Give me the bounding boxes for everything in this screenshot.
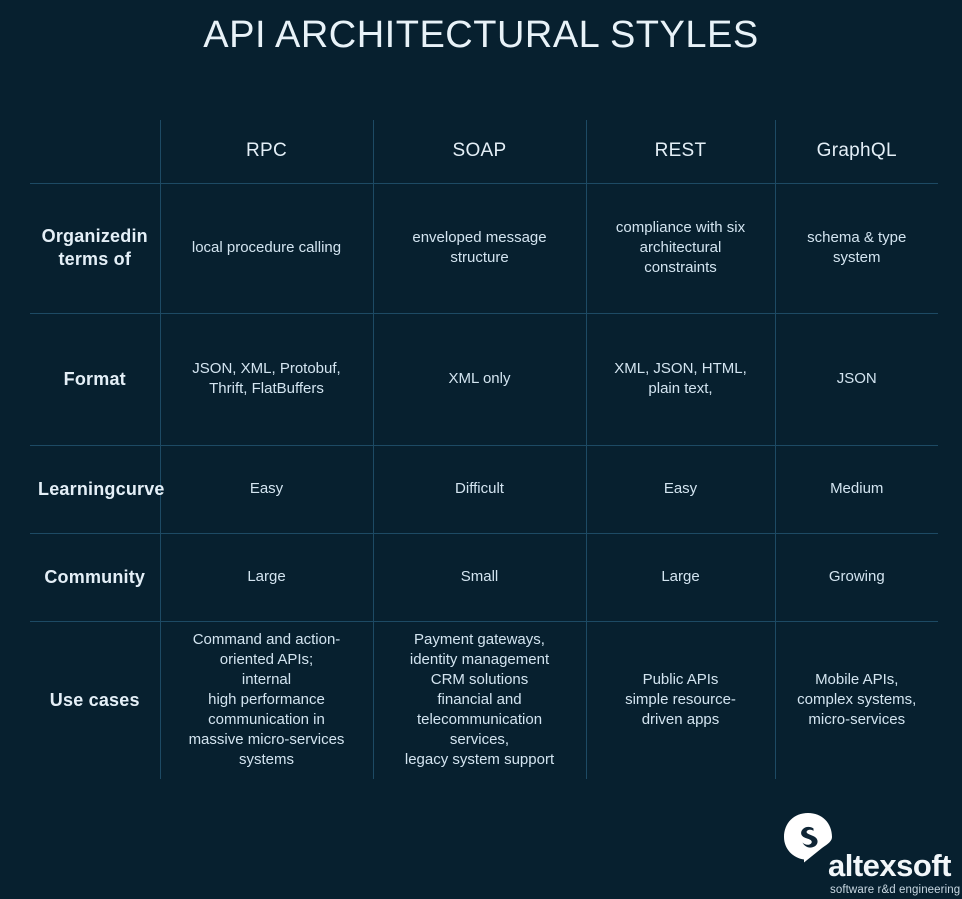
cell-format-soap: XML only bbox=[373, 313, 586, 445]
api-comparison-table: RPC SOAP REST GraphQL Organizedin terms … bbox=[30, 120, 938, 779]
cell-line: compliance with six bbox=[595, 218, 767, 238]
cell-community-rest: Large bbox=[586, 533, 775, 621]
cell-line: telecommunication bbox=[382, 710, 578, 730]
cell-line: Difficult bbox=[382, 479, 578, 499]
cell-line: Payment gateways, bbox=[382, 630, 578, 650]
cell-community-rpc: Large bbox=[160, 533, 373, 621]
cell-line: XML, JSON, HTML, bbox=[595, 359, 767, 379]
row-label-line: Learning bbox=[38, 479, 116, 499]
cell-line: financial and bbox=[382, 690, 578, 710]
cell-line: system bbox=[784, 248, 931, 268]
cell-learning-curve-rest: Easy bbox=[586, 445, 775, 533]
cell-line: local procedure calling bbox=[169, 238, 365, 258]
row-label-format: Format bbox=[30, 313, 160, 445]
row-label-line: Use cases bbox=[50, 690, 140, 710]
cell-format-rpc: JSON, XML, Protobuf,Thrift, FlatBuffers bbox=[160, 313, 373, 445]
row-label-learning-curve: Learningcurve bbox=[30, 445, 160, 533]
column-header-rest: REST bbox=[586, 120, 775, 183]
cell-line: communication in bbox=[169, 710, 365, 730]
cell-format-graphql: JSON bbox=[775, 313, 938, 445]
cell-community-graphql: Growing bbox=[775, 533, 938, 621]
cell-line: legacy system support bbox=[382, 750, 578, 770]
cell-use-cases-soap: Payment gateways,identity managementCRM … bbox=[373, 621, 586, 779]
table-row: Use casesCommand and action-oriented API… bbox=[30, 621, 938, 779]
altexsoft-mark-icon bbox=[782, 812, 834, 864]
comparison-table-container: RPC SOAP REST GraphQL Organizedin terms … bbox=[30, 120, 938, 779]
cell-line: complex systems, bbox=[784, 690, 931, 710]
row-label-line: curve bbox=[116, 479, 165, 499]
cell-line: Easy bbox=[169, 479, 365, 499]
cell-organized-in-terms-of-graphql: schema & typesystem bbox=[775, 183, 938, 313]
cell-line: Public APIs bbox=[595, 670, 767, 690]
cell-line: services, bbox=[382, 730, 578, 750]
table-row: FormatJSON, XML, Protobuf,Thrift, FlatBu… bbox=[30, 313, 938, 445]
cell-line: Small bbox=[382, 567, 578, 587]
column-header-rpc: RPC bbox=[160, 120, 373, 183]
cell-line: systems bbox=[169, 750, 365, 770]
cell-line: JSON, XML, Protobuf, bbox=[169, 359, 365, 379]
cell-line: CRM solutions bbox=[382, 670, 578, 690]
cell-learning-curve-soap: Difficult bbox=[373, 445, 586, 533]
cell-line: Mobile APIs, bbox=[784, 670, 931, 690]
row-label-organized-in-terms-of: Organizedin terms of bbox=[30, 183, 160, 313]
table-corner-cell bbox=[30, 120, 160, 183]
cell-line: structure bbox=[382, 248, 578, 268]
cell-line: Command and action- bbox=[169, 630, 365, 650]
cell-learning-curve-graphql: Medium bbox=[775, 445, 938, 533]
cell-use-cases-rest: Public APIssimple resource-driven apps bbox=[586, 621, 775, 779]
cell-line: schema & type bbox=[784, 228, 931, 248]
logo-tagline: software r&d engineering bbox=[830, 884, 960, 897]
row-label-line: Format bbox=[64, 369, 126, 389]
cell-line: Large bbox=[169, 567, 365, 587]
cell-line: Growing bbox=[784, 567, 931, 587]
cell-line: internal bbox=[169, 670, 365, 690]
cell-organized-in-terms-of-rpc: local procedure calling bbox=[160, 183, 373, 313]
cell-line: high performance bbox=[169, 690, 365, 710]
row-label-line: Community bbox=[44, 567, 145, 587]
cell-line: JSON bbox=[784, 369, 931, 389]
cell-line: simple resource- bbox=[595, 690, 767, 710]
cell-line: oriented APIs; bbox=[169, 650, 365, 670]
cell-line: massive micro-services bbox=[169, 730, 365, 750]
cell-line: constraints bbox=[595, 258, 767, 278]
cell-learning-curve-rpc: Easy bbox=[160, 445, 373, 533]
cell-use-cases-rpc: Command and action-oriented APIs;interna… bbox=[160, 621, 373, 779]
cell-line: Medium bbox=[784, 479, 931, 499]
cell-line: Large bbox=[595, 567, 767, 587]
cell-line: driven apps bbox=[595, 710, 767, 730]
column-header-graphql: GraphQL bbox=[775, 120, 938, 183]
cell-use-cases-graphql: Mobile APIs,complex systems,micro-servic… bbox=[775, 621, 938, 779]
cell-line: Easy bbox=[595, 479, 767, 499]
cell-line: enveloped message bbox=[382, 228, 578, 248]
table-header: RPC SOAP REST GraphQL bbox=[30, 120, 938, 183]
page-title: API ARCHITECTURAL STYLES bbox=[0, 0, 962, 60]
column-header-soap: SOAP bbox=[373, 120, 586, 183]
row-label-line: Organized bbox=[42, 226, 132, 246]
row-label-use-cases: Use cases bbox=[30, 621, 160, 779]
cell-community-soap: Small bbox=[373, 533, 586, 621]
row-label-community: Community bbox=[30, 533, 160, 621]
cell-format-rest: XML, JSON, HTML,plain text, bbox=[586, 313, 775, 445]
cell-line: Thrift, FlatBuffers bbox=[169, 379, 365, 399]
table-row: Organizedin terms oflocal procedure call… bbox=[30, 183, 938, 313]
table-row: CommunityLargeSmallLargeGrowing bbox=[30, 533, 938, 621]
table-body: Organizedin terms oflocal procedure call… bbox=[30, 183, 938, 779]
cell-organized-in-terms-of-rest: compliance with sixarchitecturalconstrai… bbox=[586, 183, 775, 313]
table-row: LearningcurveEasyDifficultEasyMedium bbox=[30, 445, 938, 533]
cell-line: plain text, bbox=[595, 379, 767, 399]
cell-line: XML only bbox=[382, 369, 578, 389]
cell-organized-in-terms-of-soap: enveloped messagestructure bbox=[373, 183, 586, 313]
cell-line: identity management bbox=[382, 650, 578, 670]
altexsoft-logo: altexsoft software r&d engineering bbox=[780, 812, 950, 892]
table-header-row: RPC SOAP REST GraphQL bbox=[30, 120, 938, 183]
logo-wordmark: altexsoft bbox=[828, 850, 951, 882]
cell-line: micro-services bbox=[784, 710, 931, 730]
cell-line: architectural bbox=[595, 238, 767, 258]
